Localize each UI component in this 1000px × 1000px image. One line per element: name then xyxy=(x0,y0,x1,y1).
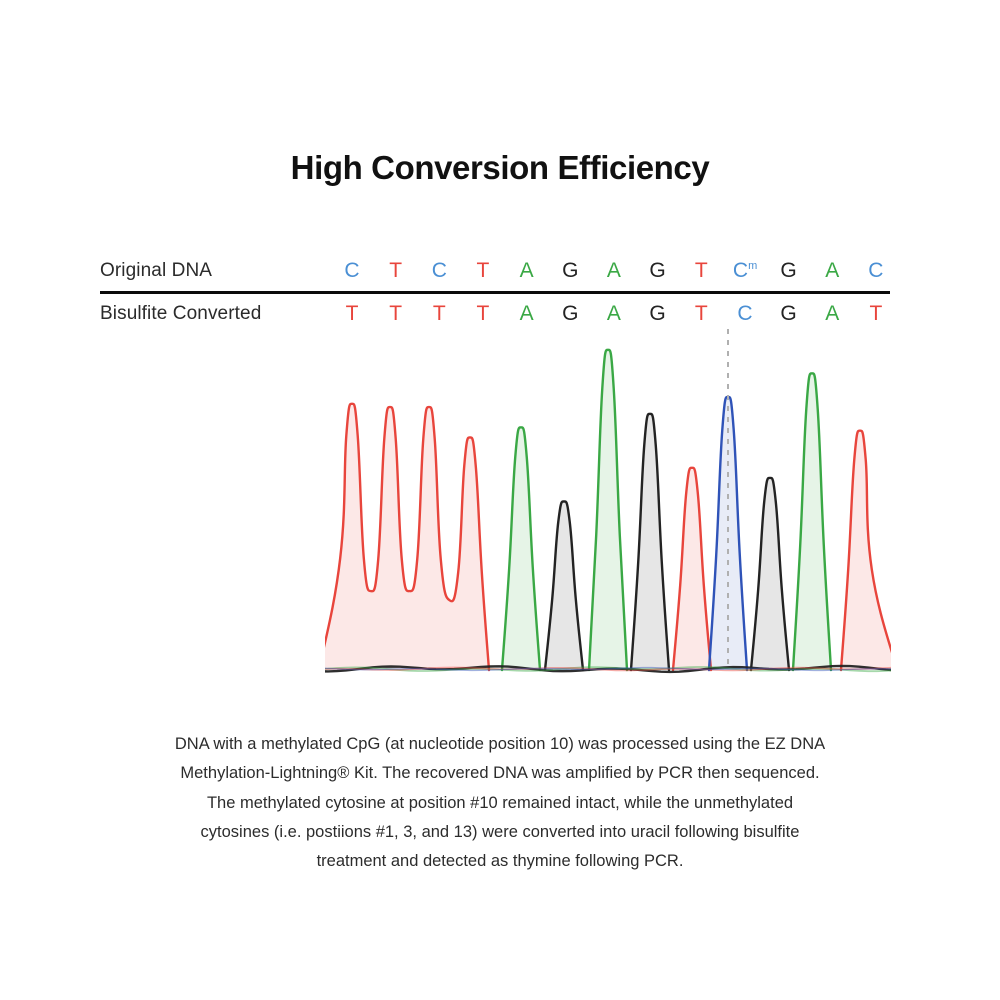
chromatogram-peak-fill-5 xyxy=(502,427,540,670)
base-original-dna-11: G xyxy=(777,260,801,281)
base-bisulfite-converted-1: T xyxy=(340,303,364,324)
base-original-dna-9: T xyxy=(689,260,713,281)
chromatogram xyxy=(325,325,891,675)
base-bisulfite-converted-13: T xyxy=(864,303,888,324)
chromatogram-peak-fill-12 xyxy=(793,373,831,670)
base-bisulfite-converted-4: T xyxy=(471,303,495,324)
base-original-dna-3: C xyxy=(427,260,451,281)
base-original-dna-4: T xyxy=(471,260,495,281)
chromatogram-peak-fill-7 xyxy=(589,350,627,670)
poster-page: High Conversion Efficiency Original DNA … xyxy=(0,0,1000,1000)
base-original-dna-6: G xyxy=(558,260,582,281)
sequence-comparison-table: Original DNA CTCTAGAGTCmGAC Bisulfite Co… xyxy=(100,252,890,332)
base-original-dna-13: C xyxy=(864,260,888,281)
caption-line-1: DNA with a methylated CpG (at nucleotide… xyxy=(110,730,890,759)
base-bisulfite-converted-5: A xyxy=(515,303,539,324)
base-original-dna-5: A xyxy=(515,260,539,281)
chromatogram-peak-fill-8 xyxy=(631,414,669,670)
base-bisulfite-converted-9: T xyxy=(689,303,713,324)
chromatogram-traces xyxy=(325,350,891,670)
sequence-row-label-bisulfite-converted: Bisulfite Converted xyxy=(100,303,335,325)
base-bisulfite-converted-2: T xyxy=(384,303,408,324)
base-bisulfite-converted-12: A xyxy=(820,303,844,324)
base-original-dna-12: A xyxy=(820,260,844,281)
base-original-dna-10: Cm xyxy=(733,260,757,281)
base-original-dna-8: G xyxy=(646,260,670,281)
base-bisulfite-converted-8: G xyxy=(646,303,670,324)
methyl-superscript: m xyxy=(748,260,757,272)
chromatogram-svg xyxy=(325,325,891,675)
caption-line-3: The methylated cytosine at position #10 … xyxy=(110,789,890,818)
page-title: High Conversion Efficiency xyxy=(0,148,1000,188)
sequence-divider xyxy=(100,291,890,294)
base-bisulfite-converted-7: A xyxy=(602,303,626,324)
base-original-dna-7: A xyxy=(602,260,626,281)
chromatogram-peak-fill-6 xyxy=(545,501,583,670)
base-bisulfite-converted-10: C xyxy=(733,303,757,324)
figure-caption: DNA with a methylated CpG (at nucleotide… xyxy=(110,730,890,877)
caption-line-4: cytosines (i.e. postiions #1, 3, and 13)… xyxy=(110,818,890,847)
base-bisulfite-converted-3: T xyxy=(427,303,451,324)
base-original-dna-1: C xyxy=(340,260,364,281)
chromatogram-peak-fill-1 xyxy=(325,404,489,670)
sequence-row-label-original-dna: Original DNA xyxy=(100,260,335,282)
chromatogram-peak-fill-11 xyxy=(751,478,789,670)
base-bisulfite-converted-6: G xyxy=(558,303,582,324)
caption-line-5: treatment and detected as thymine follow… xyxy=(110,847,890,876)
caption-line-2: Methylation-Lightning® Kit. The recovere… xyxy=(110,759,890,788)
base-original-dna-2: T xyxy=(384,260,408,281)
base-bisulfite-converted-11: G xyxy=(777,303,801,324)
sequence-bases-original-dna: CTCTAGAGTCmGAC xyxy=(335,260,890,281)
sequence-row-original-dna: Original DNA CTCTAGAGTCmGAC xyxy=(100,252,890,289)
chromatogram-peak-fill-9 xyxy=(673,468,711,670)
sequence-bases-bisulfite-converted: TTTTAGAGTCGAT xyxy=(335,303,890,324)
